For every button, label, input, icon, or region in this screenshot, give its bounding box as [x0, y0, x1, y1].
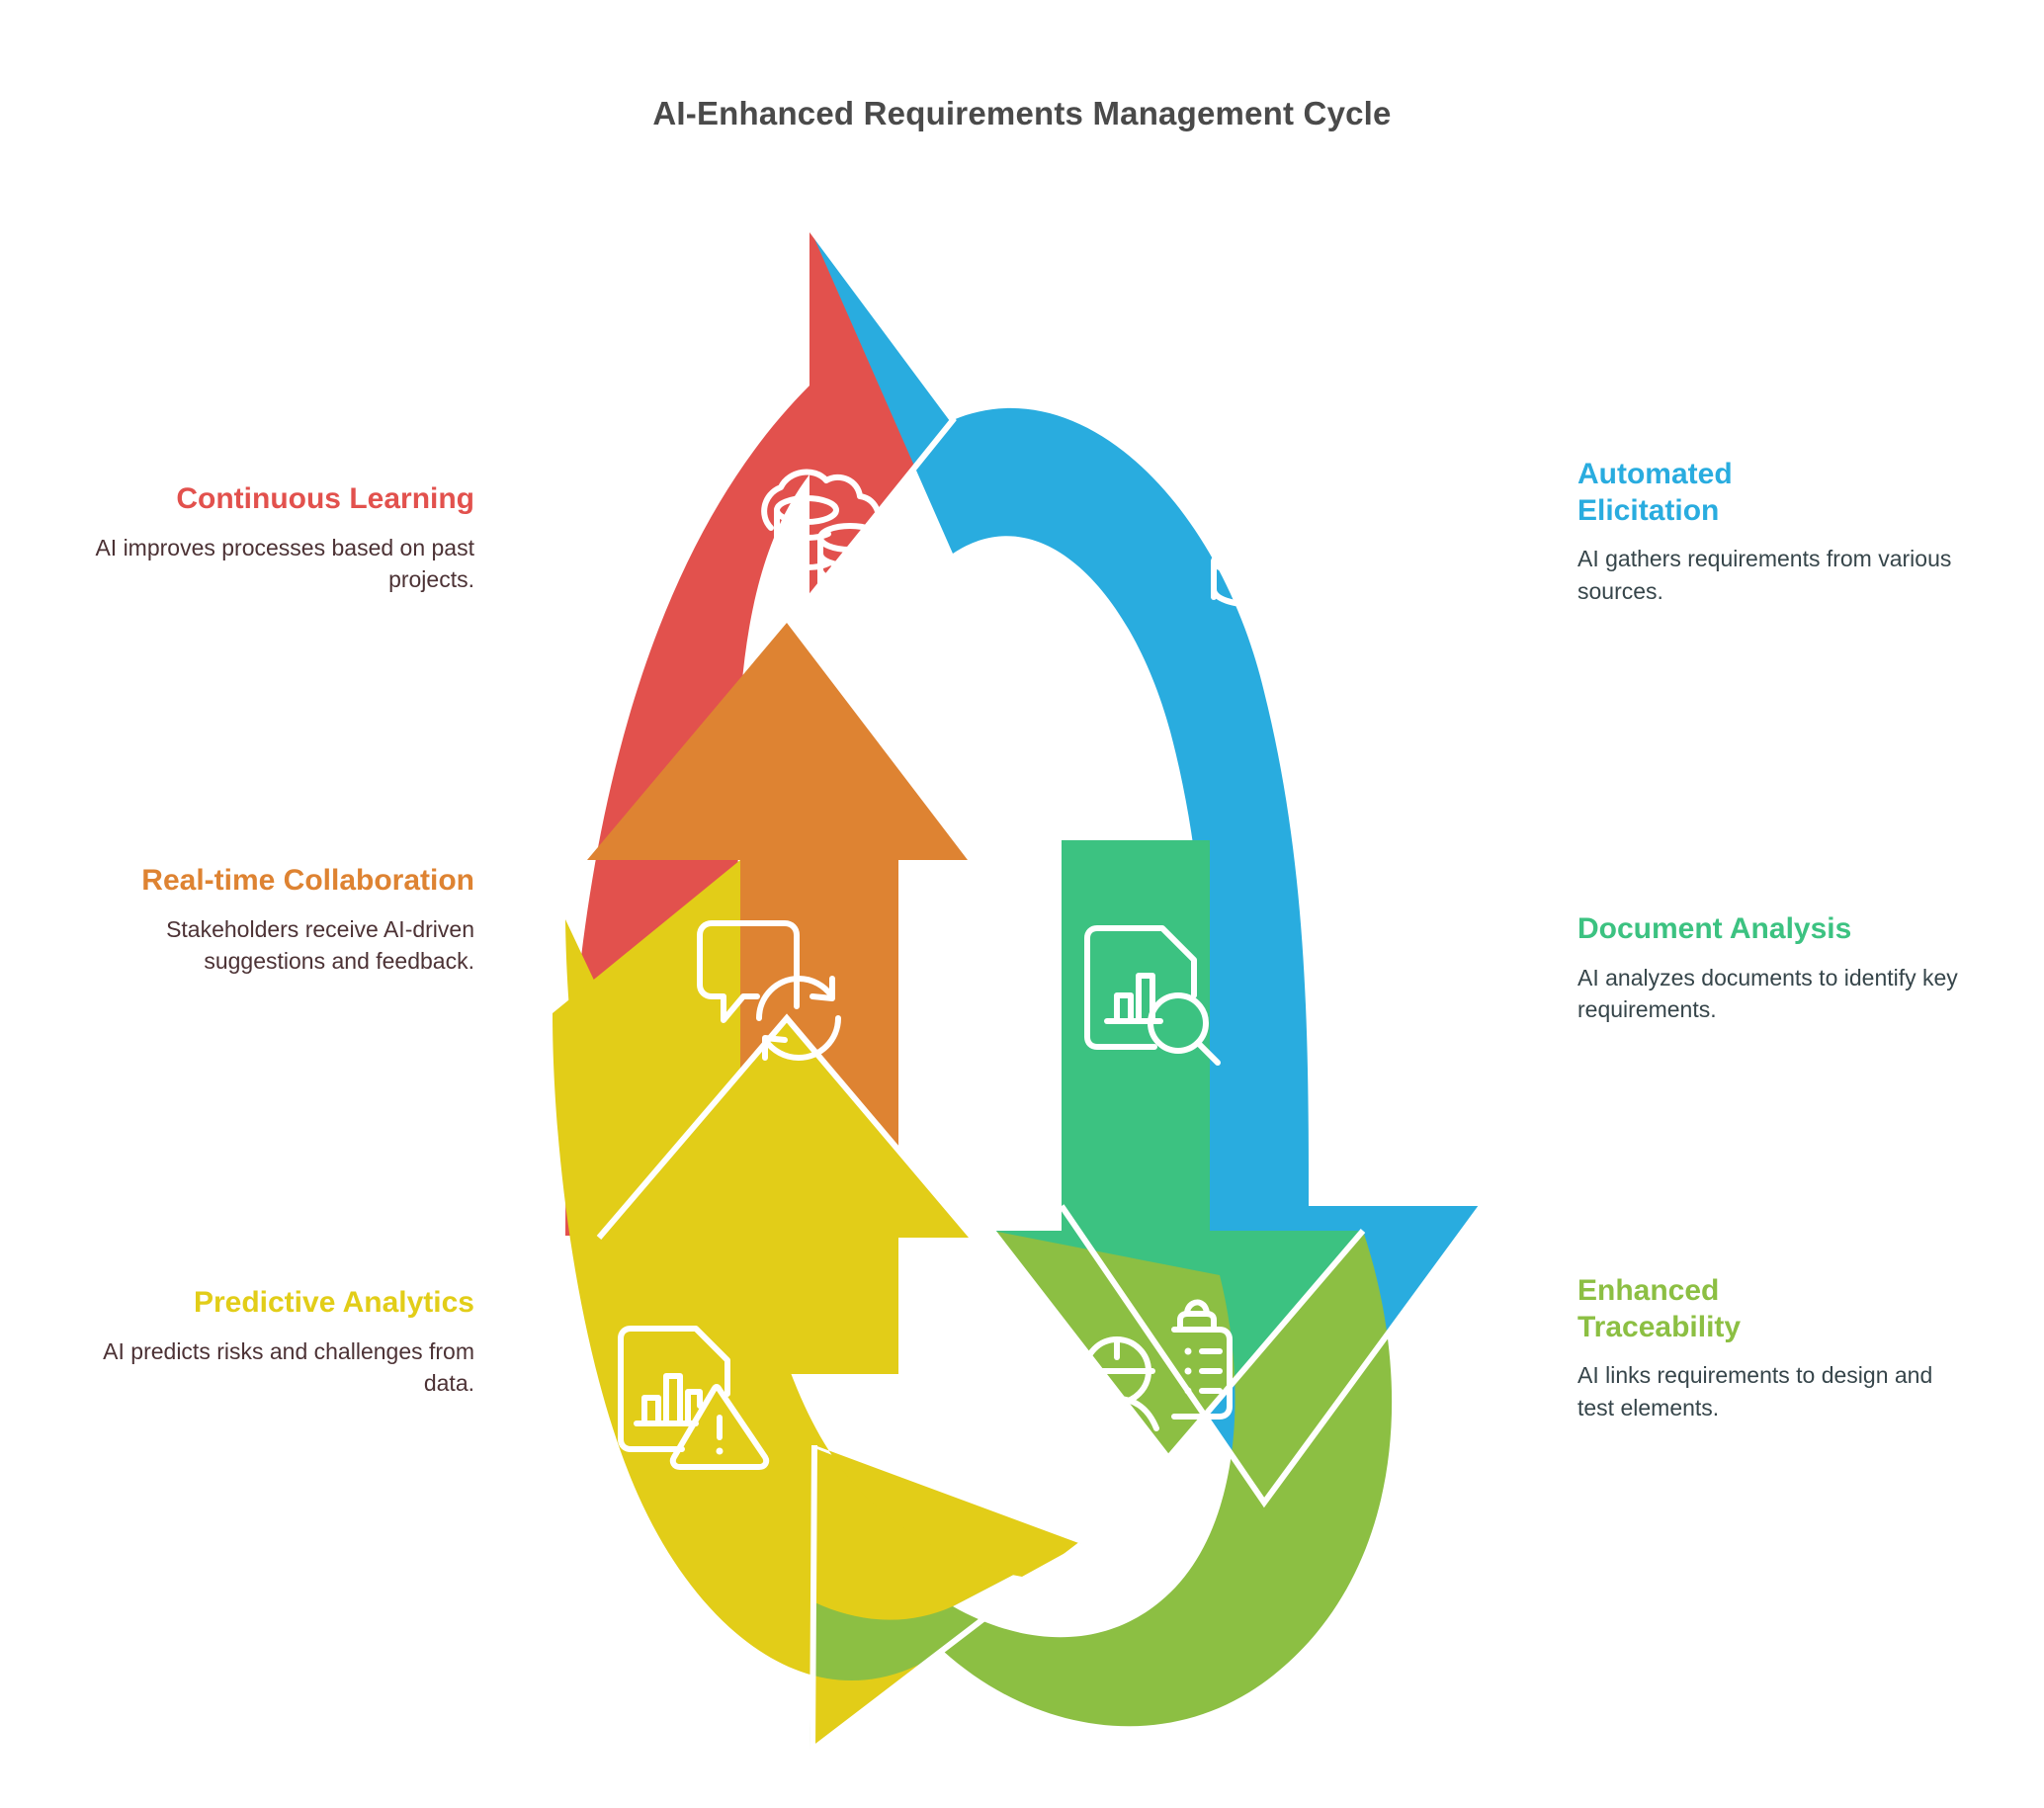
stage-heading-continuous-learning: Continuous Learning	[59, 481, 474, 518]
stage-heading-predictive-analytics: Predictive Analytics	[59, 1285, 474, 1322]
stage-heading-document-analysis: Document Analysis	[1577, 911, 1973, 948]
cycle-diagram	[528, 227, 1516, 1750]
stage-label-automated-elicitation: Automated Elicitation AI gathers require…	[1577, 457, 1973, 608]
stage-heading-automated-elicitation: Automated Elicitation	[1577, 457, 1825, 529]
stage-description-predictive-analytics: AI predicts risks and challenges from da…	[59, 1335, 474, 1400]
stage-description-automated-elicitation: AI gathers requirements from various sou…	[1577, 543, 1973, 607]
stage-description-continuous-learning: AI improves processes based on past proj…	[59, 532, 474, 596]
stage-label-enhanced-traceability: Enhanced Traceability AI links requireme…	[1577, 1273, 1973, 1424]
stage-heading-realtime-collaboration: Real-time Collaboration	[119, 863, 474, 900]
stage-label-realtime-collaboration: Real-time Collaboration Stakeholders rec…	[119, 863, 474, 978]
stage-label-document-analysis: Document Analysis AI analyzes documents …	[1577, 911, 1973, 1026]
stage-label-predictive-analytics: Predictive Analytics AI predicts risks a…	[59, 1285, 474, 1400]
stage-description-document-analysis: AI analyzes documents to identify key re…	[1577, 962, 1973, 1026]
stage-label-continuous-learning: Continuous Learning AI improves processe…	[59, 481, 474, 596]
stage-heading-enhanced-traceability: Enhanced Traceability	[1577, 1273, 1805, 1345]
page-title: AI-Enhanced Requirements Management Cycl…	[0, 95, 2044, 132]
pen-holder-document-icon	[1214, 476, 1378, 605]
stage-description-realtime-collaboration: Stakeholders receive AI-driven suggestio…	[119, 913, 474, 978]
stage-description-enhanced-traceability: AI links requirements to design and test…	[1577, 1359, 1973, 1423]
